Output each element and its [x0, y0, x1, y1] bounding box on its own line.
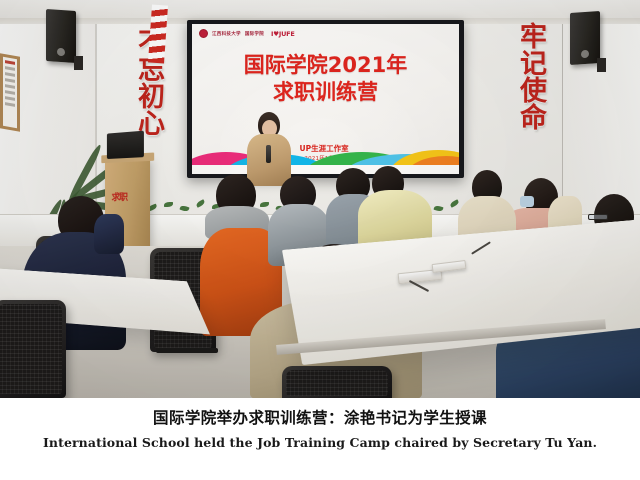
projection-screen: 江西科技大学 国际学院 I♥JUFE 国际学院2021年 求职训练营 UP生涯工… [187, 20, 464, 178]
speaker-mount-left [74, 56, 83, 70]
chair-left-foreground [0, 300, 66, 398]
microphone-icon [266, 145, 271, 163]
slide-title: 国际学院2021年 求职训练营 [192, 52, 459, 106]
wall-slogan-right: 牢记使命 [512, 22, 548, 130]
speaker-mount-right [597, 58, 606, 72]
slide-ribbon-graphic [192, 140, 459, 174]
chair-front-center [282, 366, 392, 398]
slide-title-line-2: 求职训练营 [192, 79, 459, 106]
page-root: 不忘初心 牢记使命 江西科技大学 国际学院 I♥JUFE [0, 0, 640, 480]
slide-logo-row: 江西科技大学 国际学院 I♥JUFE [199, 29, 295, 38]
face-mask-icon [520, 196, 534, 207]
slide-title-line-1: 国际学院2021年 [192, 52, 459, 79]
caption-english: International School held the Job Traini… [0, 433, 640, 453]
wall-speaker-right-icon [570, 11, 600, 65]
slide-surface: 江西科技大学 国际学院 I♥JUFE 国际学院2021年 求职训练营 UP生涯工… [192, 24, 459, 174]
bulletin-board [0, 53, 20, 132]
slide-logo-university: 江西科技大学 [212, 31, 241, 37]
podium-red-text: 求职 [112, 192, 143, 205]
caption-chinese: 国际学院举办求职训练营：涂艳书记为学生授课 [0, 407, 640, 429]
university-seal-icon [199, 29, 208, 38]
slide-logo-unit: 国际学院 [245, 31, 264, 37]
photograph: 不忘初心 牢记使命 江西科技大学 国际学院 I♥JUFE [0, 0, 640, 398]
glasses-icon [588, 214, 608, 220]
slide-logo-brand: I♥JUFE [271, 30, 295, 38]
wall-speaker-left-icon [46, 9, 76, 63]
podium-monitor [107, 131, 144, 159]
caption-block: 国际学院举办求职训练营：涂艳书记为学生授课 International Scho… [0, 398, 640, 480]
chair-orange-base [156, 348, 218, 353]
